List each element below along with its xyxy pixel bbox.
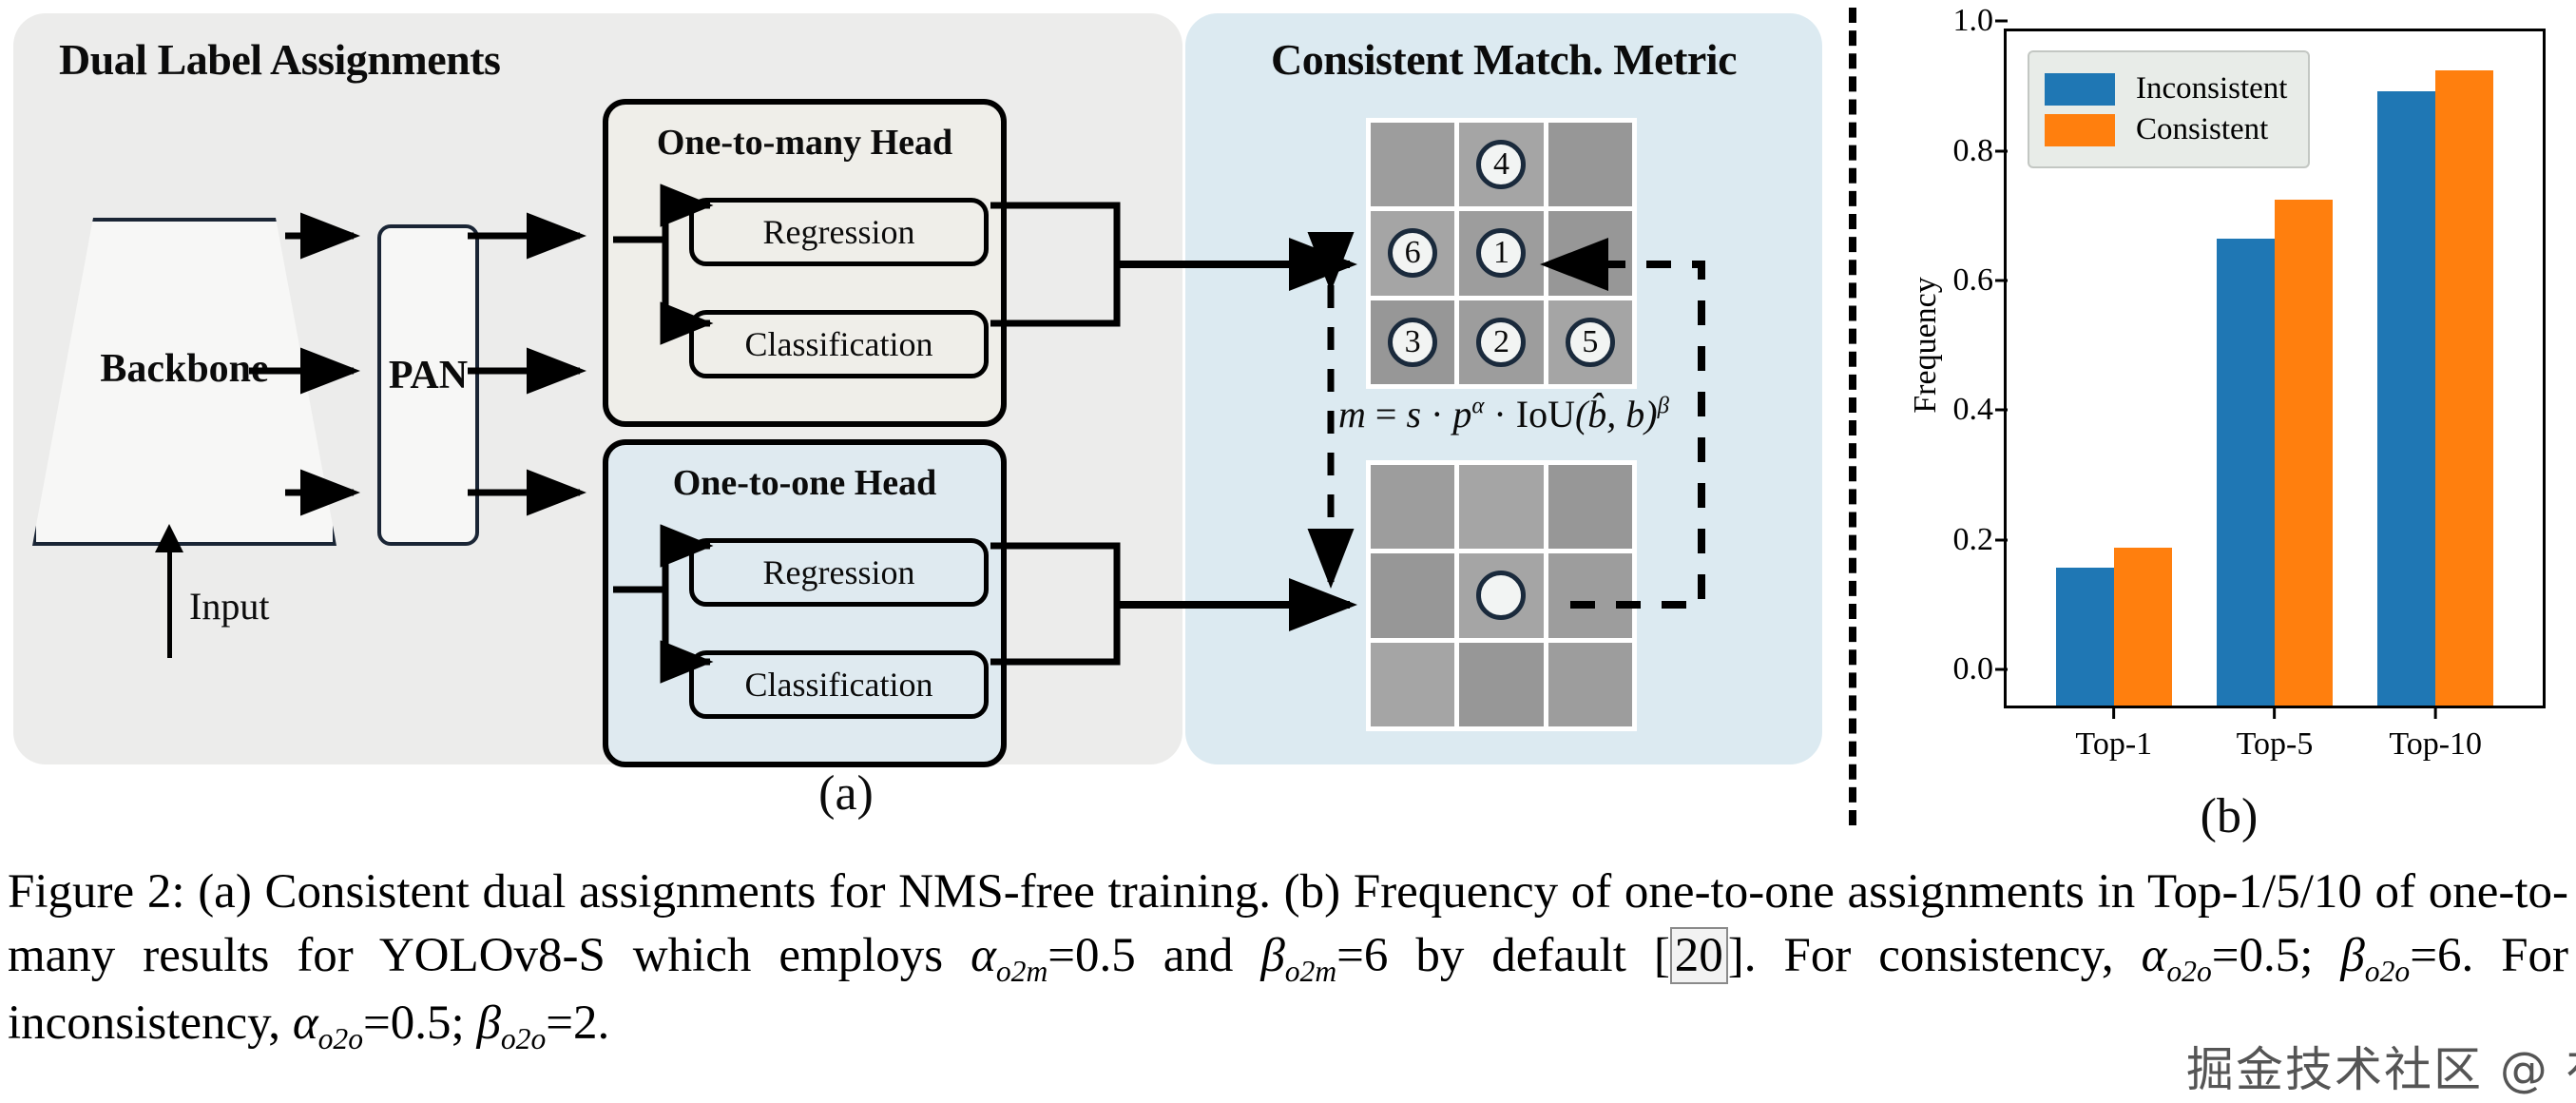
caption-beta-o2m: β	[1260, 929, 1284, 982]
one-to-one-head-box: One-to-one Head Regression Classificatio…	[603, 439, 1007, 767]
grid-cell	[1459, 553, 1543, 637]
grid-cell	[1371, 123, 1454, 206]
panel-divider	[1849, 8, 1856, 825]
y-tick-label: 0.0	[1953, 651, 2008, 687]
figure-caption: Figure 2: (a) Consistent dual assignment…	[8, 861, 2568, 1059]
grid-cell	[1548, 553, 1632, 637]
caption-reference[interactable]: 20	[1670, 927, 1728, 984]
grid-cell: 1	[1459, 211, 1543, 295]
caption-beta-o2o-1: β	[2340, 929, 2364, 982]
grid-cell: 2	[1459, 300, 1543, 384]
rank-marker: 6	[1388, 228, 1437, 278]
one-to-many-assignment-grid: 4 6 1 3 2 5	[1366, 118, 1637, 389]
grid-cell	[1459, 643, 1543, 726]
chart-legend: Inconsistent Consistent	[2028, 50, 2310, 168]
y-tick-label: 0.8	[1953, 133, 2008, 169]
caption-beta-o2o-2: β	[476, 997, 500, 1050]
bar-consistent	[2275, 200, 2333, 706]
selected-anchor-marker	[1476, 571, 1526, 620]
one-to-many-head-box: One-to-many Head Regression Classificati…	[603, 99, 1007, 427]
caption-val-b2: =2.	[546, 997, 609, 1050]
grid-cell	[1548, 465, 1632, 549]
one-to-many-head-title: One-to-many Head	[608, 122, 1001, 164]
grid-cell	[1459, 465, 1543, 549]
legend-swatch-icon	[2045, 73, 2115, 106]
one-to-many-regression-box: Regression	[689, 198, 989, 266]
rank-marker: 4	[1476, 140, 1526, 189]
pan-label: PAN	[377, 353, 479, 398]
caption-alpha-o2o-2: α	[293, 997, 318, 1050]
caption-val-a2: =0.5;	[363, 997, 476, 1050]
y-axis-label: Frequency	[1908, 277, 1944, 414]
grid-cell	[1371, 643, 1454, 726]
legend-item-inconsistent: Inconsistent	[2045, 71, 2287, 106]
panel-dual-label-assignments: Dual Label Assignments Backbone PAN Inpu…	[13, 13, 1182, 764]
bar-consistent	[2114, 548, 2172, 706]
grid-cell: 6	[1371, 211, 1454, 295]
x-tick-label: Top-1	[2075, 726, 2152, 763]
caption-sub-b2: o2o	[501, 1022, 546, 1055]
bar-chart-panel: Frequency 0.0 0.2 0.4 0.6 0.8 1.0 Top-1 …	[1892, 13, 2563, 850]
bar-inconsistent	[2377, 91, 2435, 706]
caption-seg2: . For consistency,	[1744, 929, 2142, 982]
panel-a-title: Dual Label Assignments	[59, 34, 500, 85]
rank-marker: 2	[1476, 318, 1526, 367]
caption-alpha-o2m: α	[971, 929, 996, 982]
y-tick-label: 0.6	[1953, 262, 2008, 299]
x-tick-label: Top-10	[2389, 726, 2482, 763]
input-arrow-icon	[167, 549, 172, 658]
grid-cell	[1548, 211, 1632, 295]
y-tick-label: 1.0	[1953, 3, 2008, 39]
figure-2: Dual Label Assignments Backbone PAN Inpu…	[0, 0, 2576, 856]
grid-cell	[1371, 553, 1454, 637]
watermark-text: 掘金技术社区 @ 布客飞龙	[2186, 1032, 2576, 1100]
grid-cell	[1371, 465, 1454, 549]
bar-consistent	[2435, 70, 2493, 706]
legend-item-consistent: Consistent	[2045, 112, 2287, 147]
caption-val-a1: =0.5;	[2212, 929, 2341, 982]
caption-sub-beta-o2m: o2m	[1285, 956, 1336, 989]
caption-sub-a2: o2o	[318, 1022, 363, 1055]
consistent-match-metric-formula: m = s · pα · IoU(b̂, b)β	[1185, 392, 1822, 436]
grid-cell	[1548, 123, 1632, 206]
caption-val-beta-o2m: =6 by default	[1336, 929, 1654, 982]
one-to-one-classification-box: Classification	[689, 650, 989, 719]
y-tick-label: 0.4	[1953, 392, 2008, 428]
one-to-one-head-title: One-to-one Head	[608, 462, 1001, 504]
grid-cell: 3	[1371, 300, 1454, 384]
input-label: Input	[189, 584, 269, 629]
grid-cell: 5	[1548, 300, 1632, 384]
backbone-label: Backbone	[32, 346, 336, 392]
caption-sub-a1: o2o	[2166, 956, 2211, 989]
one-to-one-regression-box: Regression	[689, 538, 989, 607]
rank-marker: 3	[1388, 318, 1437, 367]
bar-inconsistent	[2056, 568, 2114, 706]
plot-area: 0.0 0.2 0.4 0.6 0.8 1.0 Top-1 Top-5 Top-…	[2004, 29, 2546, 708]
caption-prefix: Figure 2:	[8, 865, 185, 919]
grid-cell: 4	[1459, 123, 1543, 206]
caption-val-alpha-o2m: =0.5 and	[1048, 929, 1260, 982]
caption-sub-b1: o2o	[2365, 956, 2410, 989]
legend-swatch-icon	[2045, 114, 2115, 146]
caption-sub-o2m: o2m	[996, 956, 1048, 989]
legend-label: Consistent	[2136, 112, 2268, 147]
grid-cell	[1548, 643, 1632, 726]
x-tick-label: Top-5	[2237, 726, 2314, 763]
panel-cmm-title: Consistent Match. Metric	[1185, 34, 1822, 85]
caption-alpha-o2o-1: α	[2142, 929, 2167, 982]
bar-inconsistent	[2217, 239, 2275, 706]
y-tick-label: 0.2	[1953, 522, 2008, 558]
subfigure-a-label: (a)	[789, 765, 903, 822]
rank-marker: 5	[1566, 318, 1615, 367]
subfigure-b-label: (b)	[2163, 788, 2296, 844]
bar-group-top-10: Top-10	[2363, 31, 2508, 706]
rank-marker: 1	[1476, 228, 1526, 278]
one-to-one-assignment-grid	[1366, 460, 1637, 731]
one-to-many-classification-box: Classification	[689, 310, 989, 378]
legend-label: Inconsistent	[2136, 71, 2287, 106]
panel-consistent-match-metric: Consistent Match. Metric 4 6 1 3 2 5	[1185, 13, 1822, 764]
